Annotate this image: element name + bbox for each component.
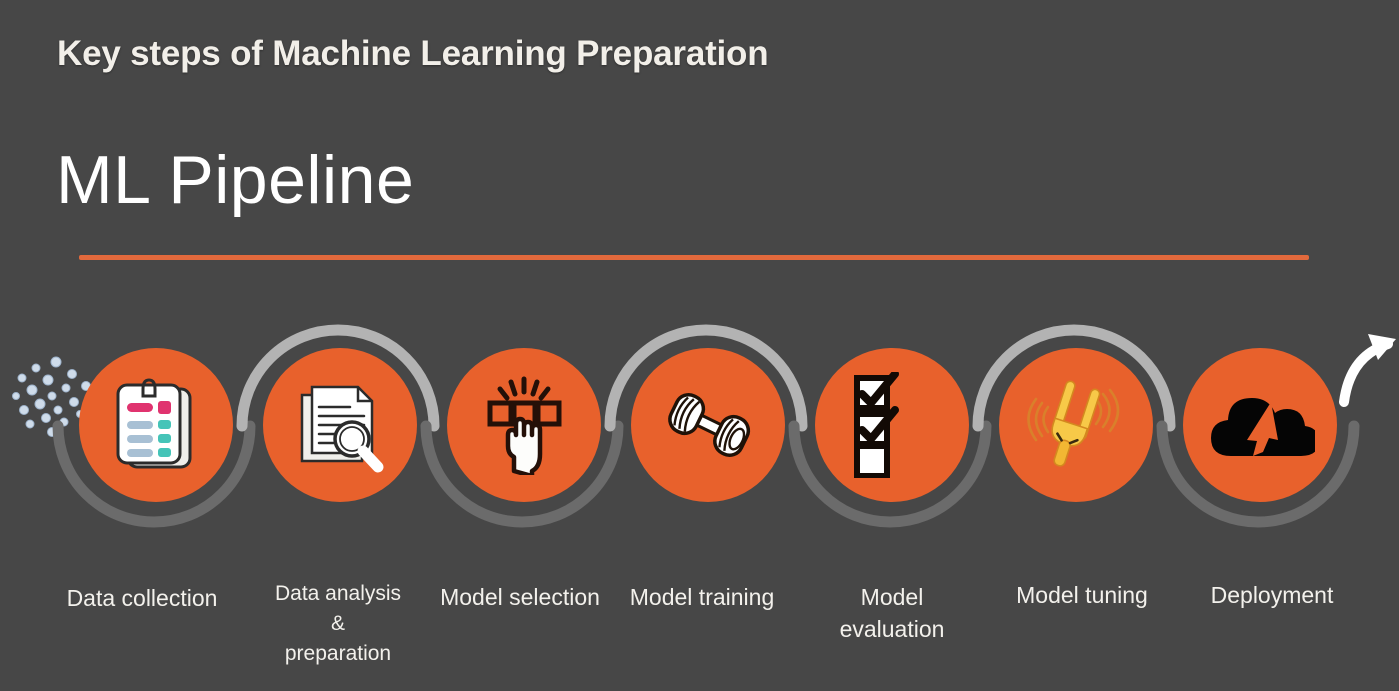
curved-arrow-icon [1338,326,1399,415]
step-icon-circle [631,348,785,502]
dumbbell-icon [656,381,760,469]
step-icon-circle [263,348,417,502]
page-title: ML Pipeline [56,146,414,214]
step-icon-circle [447,348,601,502]
slide-canvas: Key steps of Machine Learning Preparatio… [0,0,1399,691]
step-label-deployment: Deployment [1152,579,1392,611]
cloud-cursor-icon [1205,382,1315,468]
document-magnifier-icon [292,377,388,473]
step-icon-circle [79,348,233,502]
checklist-boxes-icon [849,372,935,478]
eyebrow-heading: Key steps of Machine Learning Preparatio… [57,34,768,74]
step-icon-circle [999,348,1153,502]
pipeline-steps [0,316,1399,556]
clipboard-checklist-icon [110,377,202,473]
hand-select-squares-icon [474,375,574,475]
pipeline-step-deployment[interactable] [1148,316,1368,546]
pipeline-labels: Data collection Data analysis & preparat… [0,568,1399,688]
step-icon-circle [815,348,969,502]
step-icon-circle [1183,348,1337,502]
title-underline-rule [79,255,1309,260]
tuning-fork-icon [1024,373,1128,477]
